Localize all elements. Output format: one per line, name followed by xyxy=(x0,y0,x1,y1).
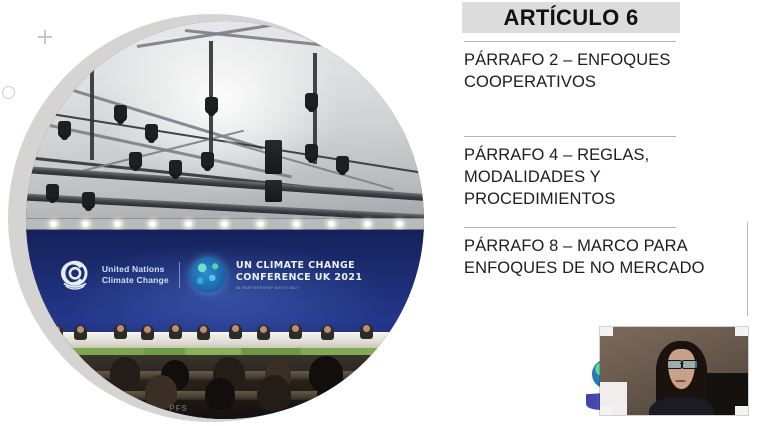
stage-light xyxy=(82,192,95,207)
divider xyxy=(464,136,676,137)
audience-seating: PFS xyxy=(26,355,424,419)
stage-light xyxy=(114,105,127,120)
unfccc-line1: United Nations xyxy=(102,264,169,275)
unfccc-wordmark: United Nations Climate Change xyxy=(102,264,169,286)
speaker-box xyxy=(265,180,282,202)
small-circle-icon xyxy=(2,86,15,99)
speaker-torso xyxy=(649,397,714,415)
desk-marking-label: PFS xyxy=(169,404,188,413)
unfccc-logo-icon xyxy=(58,258,92,292)
bullet-text-2: PÁRRAFO 4 – REGLAS, MODALIDADES Y PROCED… xyxy=(464,144,709,210)
cop-line2: CONFERENCE UK 2021 xyxy=(236,272,363,284)
unfccc-line2: Climate Change xyxy=(102,275,169,286)
stage-light xyxy=(169,160,182,175)
divider xyxy=(464,41,676,42)
video-corner-mask xyxy=(735,327,748,336)
stage-light xyxy=(201,152,214,167)
stage-light xyxy=(205,97,218,112)
divider xyxy=(464,227,676,228)
stage-light xyxy=(58,121,71,136)
backdrop-logos: United Nations Climate Change UN CLIMATE… xyxy=(58,251,400,300)
cop26-plenary-photo: United Nations Climate Change UN CLIMATE… xyxy=(26,21,424,419)
webcam-video-tile[interactable] xyxy=(600,327,748,415)
bullet-block-2: PÁRRAFO 4 – REGLAS, MODALIDADES Y PROCED… xyxy=(464,136,709,210)
cop-line1: UN CLIMATE CHANGE xyxy=(236,260,363,272)
speaker-box xyxy=(265,140,282,174)
conference-backdrop: United Nations Climate Change UN CLIMATE… xyxy=(26,230,424,419)
speaker-mouth xyxy=(675,380,685,382)
stage-light xyxy=(46,184,59,199)
presentation-slide: United Nations Climate Change UN CLIMATE… xyxy=(0,0,758,426)
globe-icon xyxy=(190,257,226,293)
stage-light xyxy=(336,156,349,171)
stage-light xyxy=(305,144,318,159)
stage-light xyxy=(145,124,158,139)
bullet-block-1: PÁRRAFO 2 – ENFOQUES COOPERATIVOS xyxy=(464,41,709,93)
stage-light xyxy=(129,152,142,167)
roof-skylight-glow xyxy=(98,37,345,196)
slide-title-box: ARTÍCULO 6 xyxy=(462,2,680,33)
cop26-wordmark: UN CLIMATE CHANGE CONFERENCE UK 2021 IN … xyxy=(236,260,363,290)
glasses-icon xyxy=(667,360,698,367)
video-corner-mask xyxy=(600,327,613,336)
bullet-text-1: PÁRRAFO 2 – ENFOQUES COOPERATIVOS xyxy=(464,49,709,93)
stage-light xyxy=(305,93,318,108)
photo-stage: United Nations Climate Change UN CLIMATE… xyxy=(0,0,440,426)
video-corner-mask xyxy=(735,406,748,415)
logo-divider xyxy=(179,262,180,288)
page-title: ARTÍCULO 6 xyxy=(504,5,639,31)
video-corner-mask xyxy=(600,406,613,415)
bullet-text-3: PÁRRAFO 8 – MARCO PARA ENFOQUES DE NO ME… xyxy=(464,235,709,279)
bullet-block-3: PÁRRAFO 8 – MARCO PARA ENFOQUES DE NO ME… xyxy=(464,227,709,279)
cop-subline: IN PARTNERSHIP WITH ITALY xyxy=(236,285,363,290)
